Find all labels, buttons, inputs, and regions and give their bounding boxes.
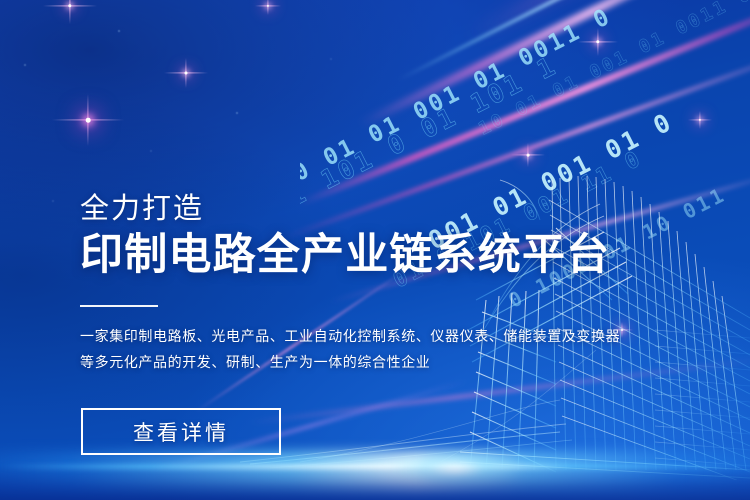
hero-description: 一家集印制电路板、光电产品、工业自动化控制系统、仪器仪表、储能装置及变换器 等多… <box>80 323 600 375</box>
hero-banner: 10 01 01 001 01 0011 0 1001 101 0 01 101… <box>0 0 750 500</box>
view-details-button[interactable]: 查看详情 <box>81 408 281 455</box>
hero-content: 全力打造 印制电路全产业链系统平台 一家集印制电路板、光电产品、工业自动化控制系… <box>80 192 600 375</box>
light-streak <box>299 0 750 207</box>
hero-description-line-1: 一家集印制电路板、光电产品、工业自动化控制系统、仪器仪表、储能装置及变换器 <box>80 323 600 349</box>
bottom-shade <box>0 466 750 500</box>
hero-description-line-2: 等多元化产品的开发、研制、生产为一体的综合性企业 <box>80 349 600 375</box>
hero-eyebrow: 全力打造 <box>80 192 600 226</box>
hero-divider <box>80 305 158 307</box>
light-streak <box>358 0 748 129</box>
hero-headline: 印制电路全产业链系统平台 <box>80 230 600 281</box>
